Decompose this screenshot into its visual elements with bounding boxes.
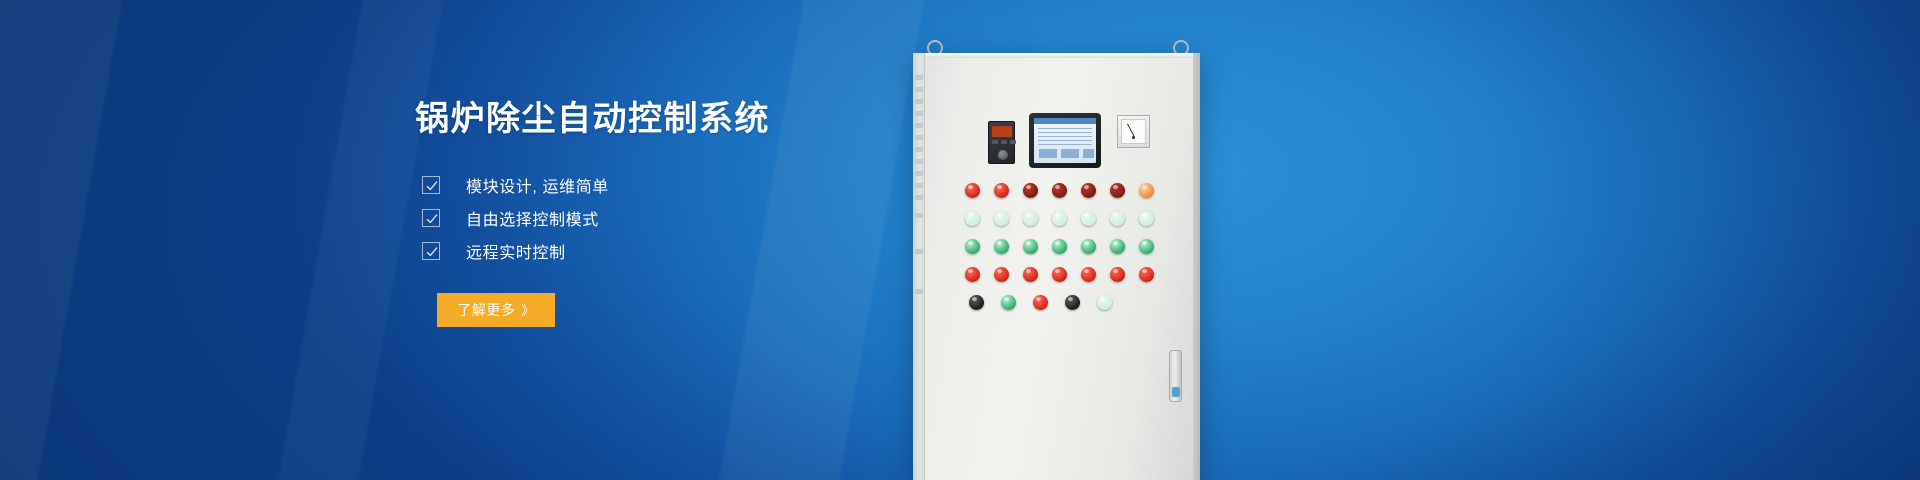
indicator-lamp[interactable]	[1081, 183, 1096, 198]
checkbox-checked-icon	[422, 209, 440, 227]
cabinet-top-edge	[913, 53, 1200, 58]
cabinet-right-edge	[1193, 53, 1200, 480]
indicator-lamp[interactable]	[965, 211, 980, 226]
indicator-lamp[interactable]	[994, 239, 1009, 254]
lock-icon	[1172, 387, 1180, 397]
indicator-lamp[interactable]	[1110, 267, 1125, 282]
indicator-lamp[interactable]	[1110, 239, 1125, 254]
indicator-lamp[interactable]	[1023, 267, 1038, 282]
control-switch[interactable]	[1097, 295, 1112, 310]
indicator-lamp[interactable]	[1081, 211, 1096, 226]
indicator-lamp[interactable]	[994, 267, 1009, 282]
meter-face	[1121, 119, 1146, 144]
vfd-controller	[988, 121, 1015, 164]
vfd-knob	[998, 150, 1008, 160]
checkbox-checked-icon	[422, 242, 440, 260]
list-item: 模块设计, 运维简单	[415, 169, 935, 202]
hero-banner: 锅炉除尘自动控制系统 模块设计, 运维简单 自由选择控制模式	[0, 0, 1920, 480]
hmi-screen-surface	[1034, 118, 1096, 163]
hero-copy-block: 锅炉除尘自动控制系统 模块设计, 运维简单 自由选择控制模式	[415, 98, 935, 327]
lamp-row	[965, 211, 1155, 226]
indicator-lamp[interactable]	[1023, 239, 1038, 254]
indicator-lamp[interactable]	[1081, 267, 1096, 282]
checkbox-checked-icon	[422, 176, 440, 194]
hmi-touch-screen	[1029, 113, 1101, 168]
indicator-lamp[interactable]	[1023, 211, 1038, 226]
list-item: 远程实时控制	[415, 235, 935, 268]
vfd-display	[992, 126, 1012, 137]
indicator-lamp[interactable]	[1139, 239, 1154, 254]
indicator-lamp[interactable]	[1110, 183, 1125, 198]
lamp-row	[965, 183, 1155, 198]
indicator-lamp[interactable]	[994, 211, 1009, 226]
control-cabinet-photo	[905, 40, 1205, 480]
lamp-row	[965, 239, 1155, 254]
indicator-lamp[interactable]	[965, 183, 980, 198]
indicator-lamp[interactable]	[1139, 267, 1154, 282]
list-item: 自由选择控制模式	[415, 202, 935, 235]
feature-list: 模块设计, 运维简单 自由选择控制模式 远程实时控制	[415, 169, 935, 268]
feature-label: 自由选择控制模式	[466, 206, 599, 230]
learn-more-button[interactable]: 了解更多 》	[437, 293, 555, 327]
control-switch[interactable]	[969, 295, 984, 310]
analog-meter	[1117, 115, 1150, 148]
feature-label: 模块设计, 运维简单	[466, 173, 609, 197]
control-switch[interactable]	[1033, 295, 1048, 310]
learn-more-label: 了解更多	[457, 300, 515, 320]
chevron-right-icon: 》	[521, 300, 535, 319]
indicator-lamp[interactable]	[1052, 267, 1067, 282]
cabinet-body	[913, 53, 1200, 480]
indicator-lamp[interactable]	[1081, 239, 1096, 254]
indicator-lamp[interactable]	[965, 267, 980, 282]
indicator-lamp[interactable]	[1052, 183, 1067, 198]
control-switch[interactable]	[1065, 295, 1080, 310]
indicator-lamp[interactable]	[1052, 239, 1067, 254]
indicator-lamp-grid	[965, 183, 1155, 323]
page-title: 锅炉除尘自动控制系统	[415, 98, 935, 141]
lamp-row	[969, 295, 1155, 310]
indicator-lamp[interactable]	[1139, 183, 1154, 198]
indicator-lamp[interactable]	[1052, 211, 1067, 226]
indicator-lamp[interactable]	[1110, 211, 1125, 226]
indicator-lamp[interactable]	[994, 183, 1009, 198]
control-switch[interactable]	[1001, 295, 1016, 310]
indicator-lamp[interactable]	[1139, 211, 1154, 226]
indicator-lamp[interactable]	[1023, 183, 1038, 198]
lamp-row	[965, 267, 1155, 282]
feature-label: 远程实时控制	[466, 239, 566, 263]
door-handle-lock[interactable]	[1169, 350, 1182, 402]
indicator-lamp[interactable]	[965, 239, 980, 254]
